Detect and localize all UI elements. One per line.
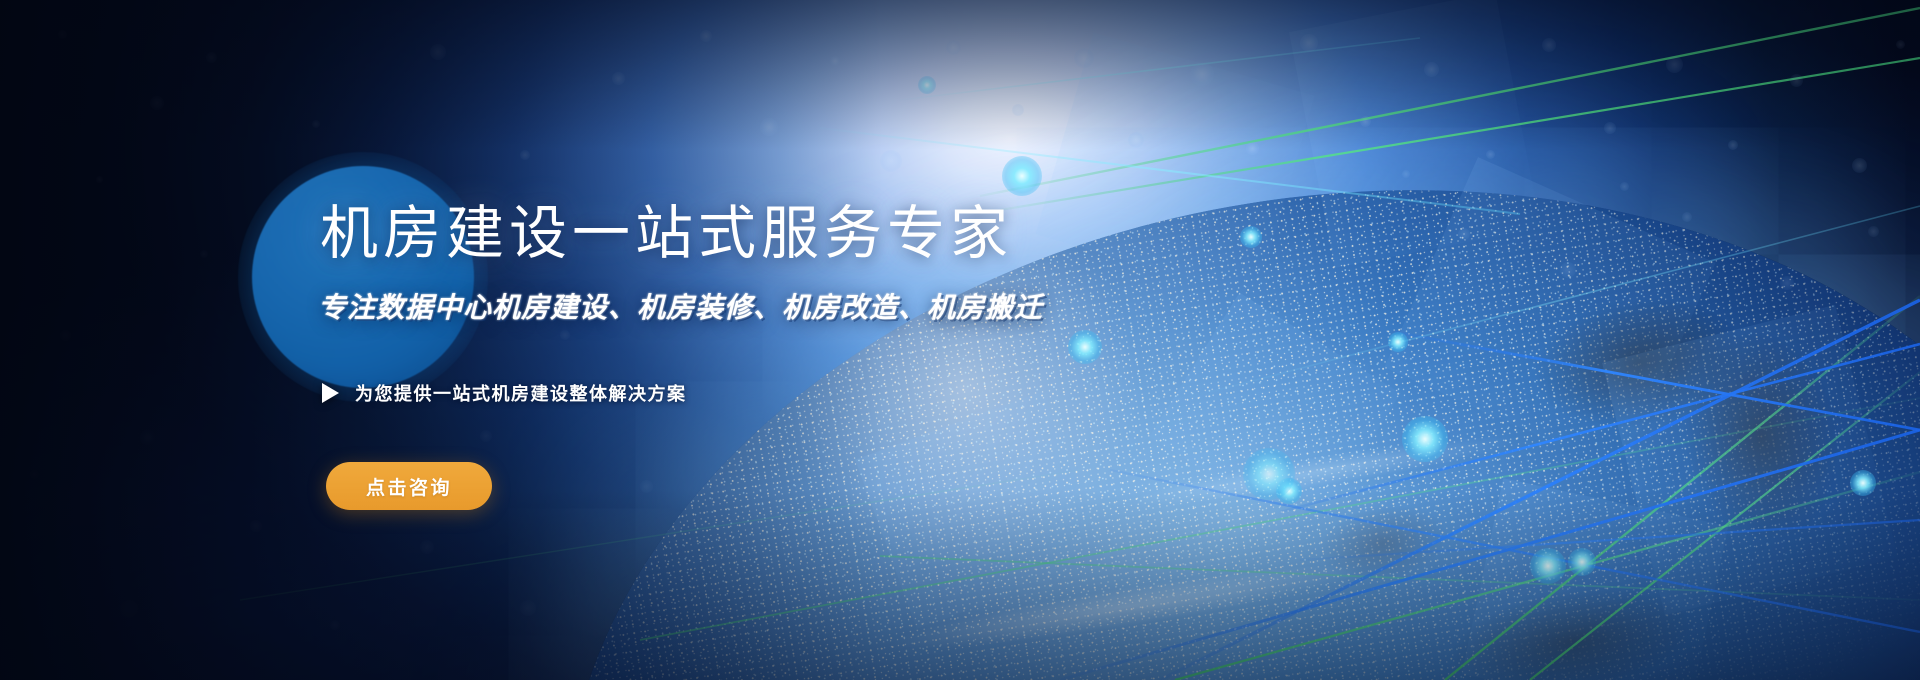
consult-cta-button[interactable]: 点击咨询 bbox=[326, 462, 492, 510]
banner-tagline-row: 为您提供一站式机房建设整体解决方案 bbox=[322, 380, 687, 406]
banner-tagline-text: 为您提供一站式机房建设整体解决方案 bbox=[355, 380, 687, 406]
hero-banner: 机房建设一站式服务专家 专注数据中心机房建设、机房装修、机房改造、机房搬迁 为您… bbox=[0, 0, 1920, 680]
banner-content: 机房建设一站式服务专家 专注数据中心机房建设、机房装修、机房改造、机房搬迁 为您… bbox=[0, 0, 1920, 680]
triangle-right-icon bbox=[322, 383, 339, 403]
banner-subheadline: 专注数据中心机房建设、机房装修、机房改造、机房搬迁 bbox=[318, 290, 1043, 325]
banner-headline: 机房建设一站式服务专家 bbox=[320, 204, 1013, 264]
